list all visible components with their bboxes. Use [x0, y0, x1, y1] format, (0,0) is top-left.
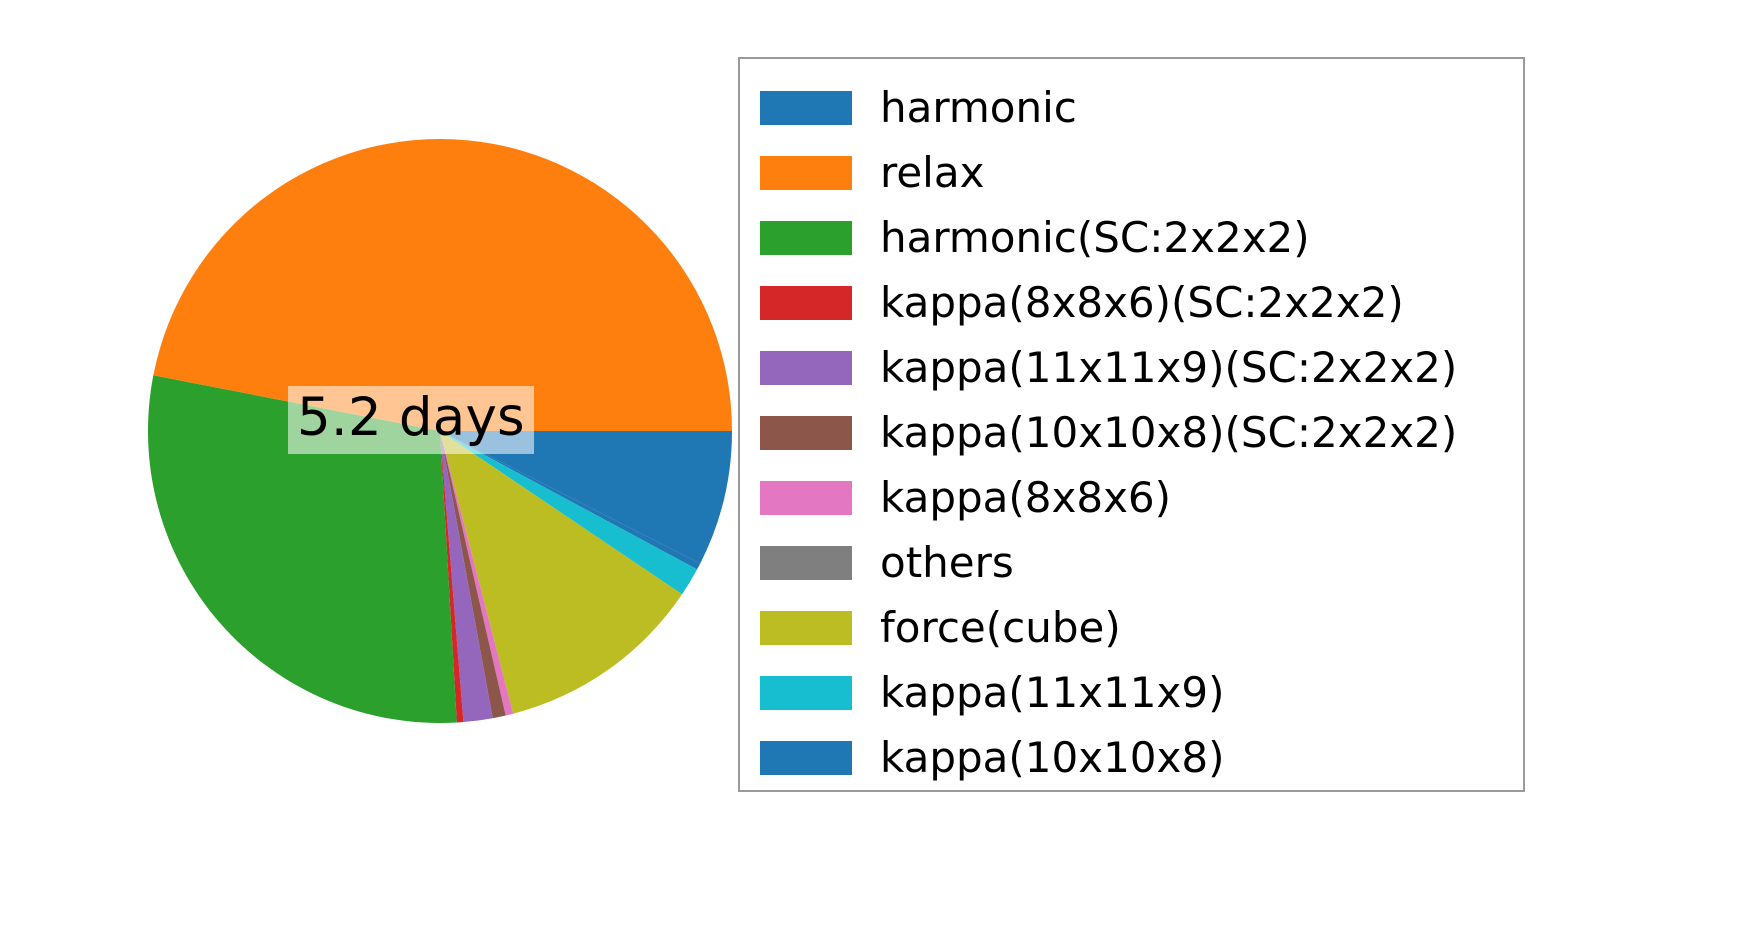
- legend-item-label: others: [880, 542, 1014, 584]
- legend-color-swatch: [760, 611, 852, 645]
- legend-color-swatch: [760, 481, 852, 515]
- legend-item[interactable]: kappa(11x11x9)(SC:2x2x2): [740, 335, 1523, 400]
- legend-item-label: kappa(10x10x8)(SC:2x2x2): [880, 412, 1457, 454]
- legend-item[interactable]: harmonic(SC:2x2x2): [740, 205, 1523, 270]
- legend-item[interactable]: force(cube): [740, 595, 1523, 660]
- legend-color-swatch: [760, 416, 852, 450]
- legend-item-label: relax: [880, 152, 984, 194]
- legend-item-label: kappa(11x11x9)(SC:2x2x2): [880, 347, 1457, 389]
- legend-item-label: force(cube): [880, 607, 1121, 649]
- legend-item-label: harmonic: [880, 87, 1077, 129]
- legend-item[interactable]: others: [740, 530, 1523, 595]
- legend-color-swatch: [760, 546, 852, 580]
- pie-chart-area: 5.2 days: [0, 0, 740, 951]
- legend-item[interactable]: kappa(10x10x8)(SC:2x2x2): [740, 400, 1523, 465]
- legend-item-label: kappa(8x8x6)(SC:2x2x2): [880, 282, 1404, 324]
- legend-item-label: kappa(8x8x6): [880, 477, 1171, 519]
- legend-item[interactable]: kappa(11x11x9): [740, 660, 1523, 725]
- legend-item[interactable]: harmonic: [740, 75, 1523, 140]
- chart-legend: harmonicrelaxharmonic(SC:2x2x2)kappa(8x8…: [738, 57, 1525, 792]
- legend-item[interactable]: kappa(8x8x6): [740, 465, 1523, 530]
- pie-chart-svg: [0, 0, 740, 951]
- legend-color-swatch: [760, 741, 852, 775]
- legend-color-swatch: [760, 286, 852, 320]
- figure-canvas: 5.2 days harmonicrelaxharmonic(SC:2x2x2)…: [0, 0, 1759, 951]
- legend-color-swatch: [760, 156, 852, 190]
- pie-center-label: 5.2 days: [288, 386, 534, 454]
- legend-color-swatch: [760, 91, 852, 125]
- legend-item-label: kappa(10x10x8): [880, 737, 1224, 779]
- legend-item[interactable]: relax: [740, 140, 1523, 205]
- legend-color-swatch: [760, 351, 852, 385]
- legend-item[interactable]: kappa(10x10x8): [740, 725, 1523, 790]
- legend-item-list: harmonicrelaxharmonic(SC:2x2x2)kappa(8x8…: [740, 59, 1523, 790]
- legend-item-label: kappa(11x11x9): [880, 672, 1224, 714]
- legend-item-label: harmonic(SC:2x2x2): [880, 217, 1310, 259]
- legend-color-swatch: [760, 221, 852, 255]
- legend-item[interactable]: kappa(8x8x6)(SC:2x2x2): [740, 270, 1523, 335]
- legend-color-swatch: [760, 676, 852, 710]
